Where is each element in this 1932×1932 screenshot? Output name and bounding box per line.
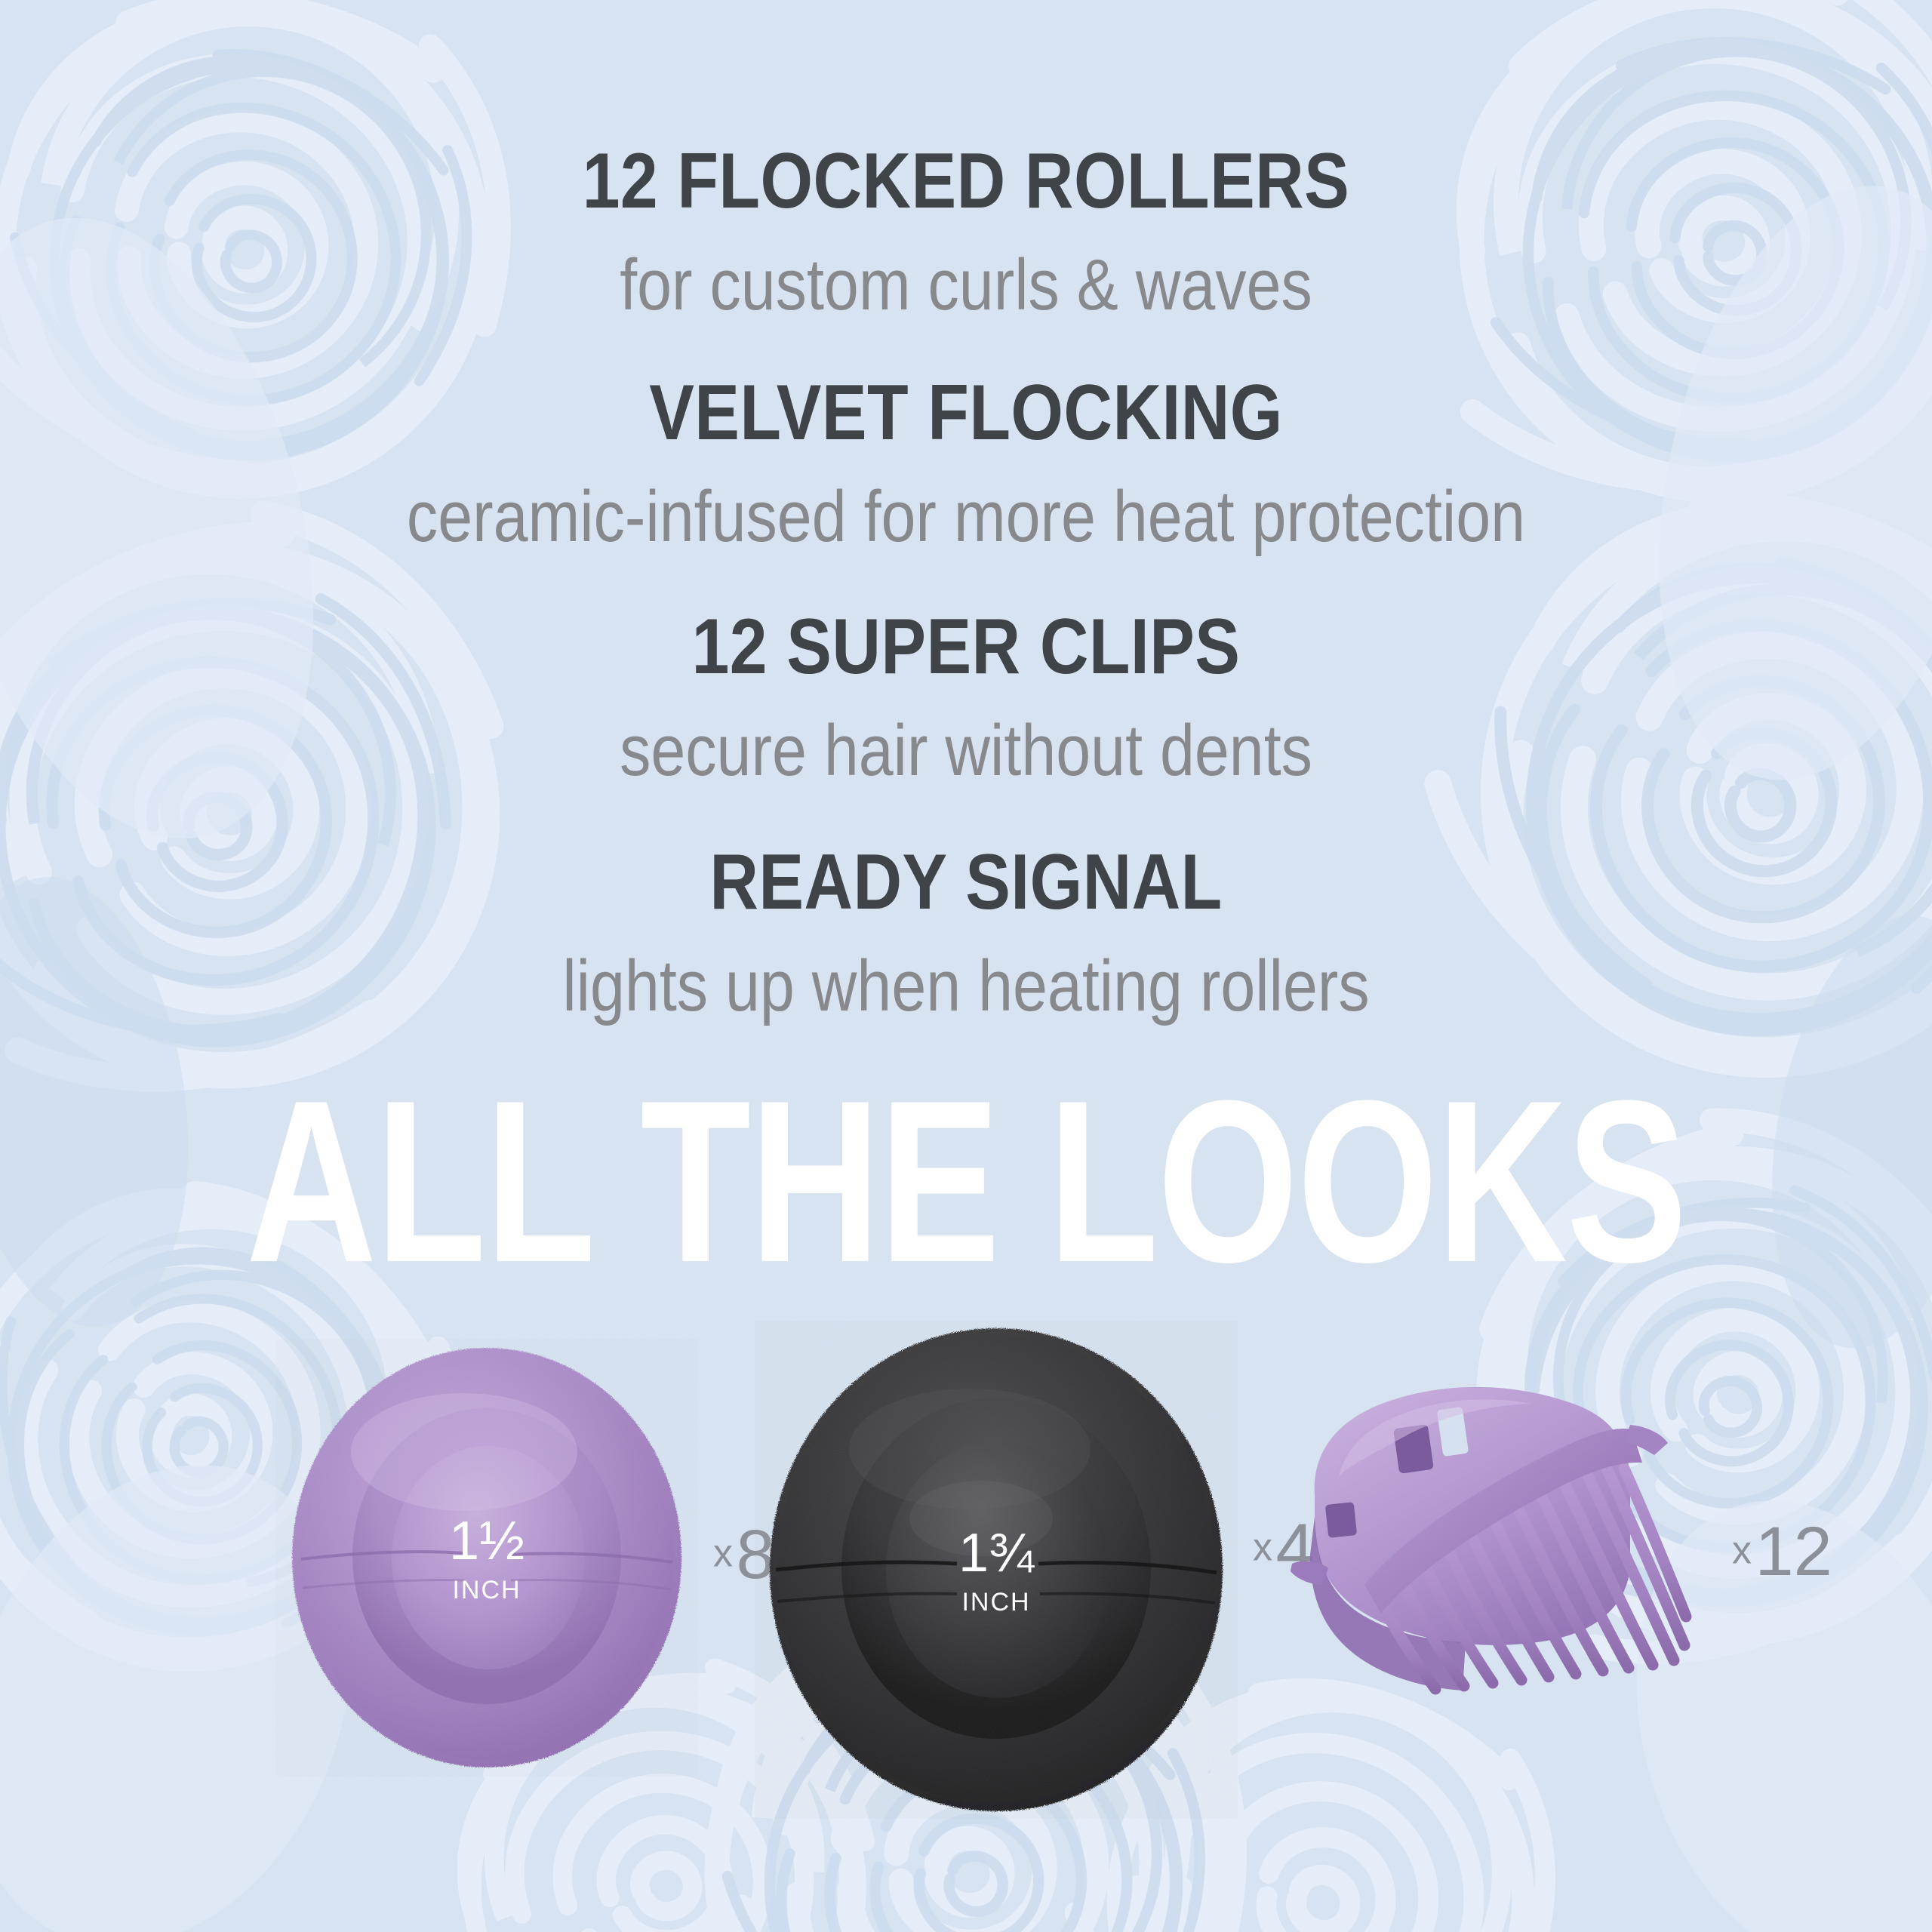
product-roller-1-5-inch: 1½ INCH — [275, 1339, 698, 1777]
roller-1-5-inch-icon — [275, 1339, 698, 1777]
product-row: 1½ INCH x 8 — [0, 1336, 1932, 1834]
headline-all-the-looks: ALL THE LOOKS — [193, 1066, 1739, 1297]
feature-title: READY SIGNAL — [135, 843, 1797, 921]
feature-super-clips: 12 SUPER CLIPS secure hair without dents — [0, 608, 1932, 787]
feature-subtitle: secure hair without dents — [135, 715, 1797, 787]
product-super-clip — [1275, 1336, 1728, 1804]
super-clip-icon — [1275, 1336, 1728, 1804]
feature-subtitle: for custom curls & waves — [135, 249, 1797, 321]
feature-subtitle: ceramic-infused for more heat protection — [135, 481, 1797, 553]
feature-flocked-rollers: 12 FLOCKED ROLLERS for custom curls & wa… — [0, 142, 1932, 321]
roller-1-75-inch-icon — [755, 1321, 1238, 1819]
feature-title: 12 SUPER CLIPS — [135, 608, 1797, 686]
multiplier-symbol: x — [1253, 1525, 1272, 1569]
product-feature-infographic: 12 FLOCKED ROLLERS for custom curls & wa… — [0, 0, 1932, 1932]
feature-velvet-flocking: VELVET FLOCKING ceramic-infused for more… — [0, 374, 1932, 553]
feature-title: 12 FLOCKED ROLLERS — [135, 142, 1797, 220]
multiplier-count: 12 — [1755, 1513, 1832, 1590]
product-roller-1-75-inch: 1¾ INCH — [755, 1321, 1238, 1819]
quantity-super-clip: x 12 — [1732, 1517, 1832, 1586]
multiplier-symbol: x — [1732, 1528, 1752, 1572]
feature-subtitle: lights up when heating rollers — [135, 950, 1797, 1023]
feature-title: VELVET FLOCKING — [135, 374, 1797, 452]
multiplier-symbol: x — [713, 1531, 733, 1575]
clip-slot-3 — [1325, 1502, 1357, 1538]
feature-ready-signal: READY SIGNAL lights up when heating roll… — [0, 843, 1932, 1023]
